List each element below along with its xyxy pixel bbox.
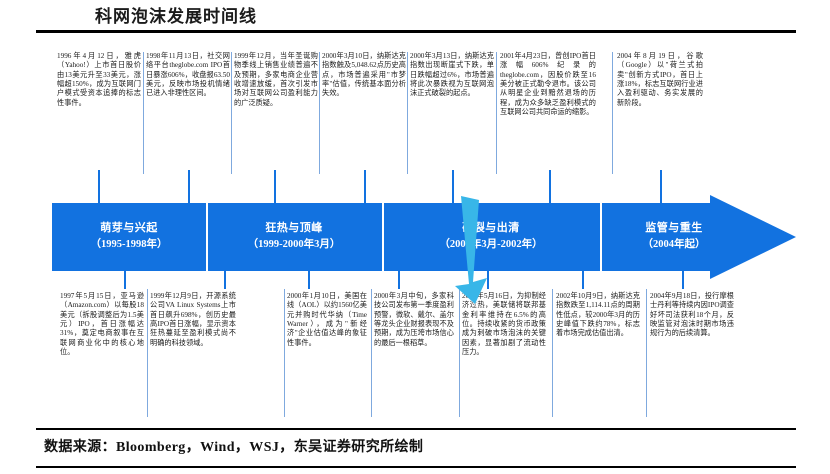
event-text: 1999年12月9日，开源系统公司VA Linux Systems上市首日飙升6…	[150, 292, 236, 347]
event-text: 2000年3月10日，纳斯达克指数触及5,048.62点历史高点，市场普遍采用"…	[322, 52, 406, 97]
connector-stem-top	[98, 170, 100, 204]
bottom-box-separator	[459, 289, 460, 417]
page-title: 科网泡沫发展时间线	[95, 2, 257, 27]
source-note: 数据来源：Bloomberg，Wind，WSJ，东吴证券研究所绘制	[44, 436, 423, 456]
title-divider	[36, 30, 796, 33]
event-box-bottom-2: 1999年12月9日，开源系统公司VA Linux Systems上市首日飙升6…	[150, 292, 236, 348]
event-box-bottom-5: 2000年5月16日，为抑制经济过热，美联储将联邦基金利率维持在6.5%的高位。…	[462, 292, 546, 358]
event-box-top-1: 1996年4月12日，雅虎（Yahoo!）上市首日股价由13美元升至33美元，涨…	[57, 52, 141, 108]
phase-label-4: 监管与重生 （2004年起）	[600, 203, 748, 271]
phase-label-2: 狂热与顶峰 （1999-2000年3月）	[206, 203, 382, 271]
phase-label-3: 破裂与出清 （2000年3月-2002年）	[382, 203, 600, 271]
phase-label-1: 萌芽与兴起 （1995-1998年）	[52, 203, 206, 271]
event-text: 2001年4月23日，曾创IPO首日涨幅606%纪录的theglobe.com，…	[500, 52, 596, 116]
top-box-separator	[231, 52, 232, 174]
footer-divider-bottom	[36, 466, 796, 468]
bottom-box-separator	[371, 289, 372, 417]
event-text: 1999年12月，当年圣诞购物季线上销售业绩普遍不及预期，多家电商企业营收增速放…	[234, 52, 318, 107]
bottom-box-separator	[147, 289, 148, 417]
top-box-separator	[319, 52, 320, 174]
connector-stem-bottom	[398, 271, 400, 289]
phase-range: （2000年3月-2002年）	[439, 237, 542, 252]
event-text: 2000年1月10日，美国在线（AOL）以约1560亿美元并购时代华纳（Time…	[287, 292, 367, 347]
event-box-top-4: 2000年3月10日，纳斯达克指数触及5,048.62点历史高点，市场普遍采用"…	[322, 52, 406, 99]
top-box-separator	[496, 52, 497, 174]
top-box-separator	[612, 52, 613, 174]
timeline-arrow: 萌芽与兴起 （1995-1998年） 狂热与顶峰 （1999-2000年3月） …	[52, 203, 794, 271]
footer-divider-top	[36, 428, 796, 430]
event-box-top-3: 1999年12月，当年圣诞购物季线上销售业绩普遍不及预期，多家电商企业营收增速放…	[234, 52, 318, 108]
phase-name: 狂热与顶峰	[265, 221, 323, 237]
phase-range: （1999-2000年3月）	[248, 237, 341, 252]
phase-name: 监管与重生	[645, 221, 703, 237]
event-text: 2002年10月9日，纳斯达克指数跌至1,114.11点的周期性低点，较2000…	[556, 292, 640, 337]
event-text: 2004年8月19日，谷歌（Google）以"荷兰式拍卖"创新方式IPO，首日上…	[617, 52, 703, 107]
event-box-bottom-6: 2002年10月9日，纳斯达克指数跌至1,114.11点的周期性低点，较2000…	[556, 292, 640, 339]
phase-name: 破裂与出清	[462, 221, 520, 237]
connector-stem-bottom	[682, 271, 684, 289]
phase-range: （1995-1998年）	[91, 237, 168, 252]
event-box-top-7: 2004年8月19日，谷歌（Google）以"荷兰式拍卖"创新方式IPO，首日上…	[617, 52, 703, 108]
event-box-top-2: 1998年11月13日，社交网络平台theglobe.com IPO首日暴涨60…	[146, 52, 230, 99]
top-box-separator	[143, 52, 144, 174]
event-box-bottom-1: 1997年5月15日，亚马逊（Amazon.com）以每股18美元（拆股调整后为…	[60, 292, 144, 358]
connector-stem-top	[364, 170, 366, 204]
connector-stem-top	[452, 170, 454, 204]
connector-stem-top	[549, 170, 551, 204]
event-text: 2000年5月16日，为抑制经济过热，美联储将联邦基金利率维持在6.5%的高位。…	[462, 292, 546, 356]
phase-divider	[206, 203, 208, 271]
connector-stem-bottom	[308, 271, 310, 289]
connector-stem-bottom	[582, 271, 584, 289]
event-text: 1997年5月15日，亚马逊（Amazon.com）以每股18美元（拆股调整后为…	[60, 292, 144, 356]
connector-stem-bottom	[487, 271, 489, 289]
event-text: 2000年3月13日，纳斯达克指数出现断崖式下跌，单日跌幅超过6%，市场普遍将此…	[410, 52, 494, 97]
phase-name: 萌芽与兴起	[100, 221, 158, 237]
top-box-separator	[407, 52, 408, 174]
event-text: 2004年9月18日，投行摩根士丹利等持续内因IPO调查好坏司法获利18个月，反…	[650, 292, 734, 337]
event-box-top-5: 2000年3月13日，纳斯达克指数出现断崖式下跌，单日跌幅超过6%，市场普遍将此…	[410, 52, 494, 99]
event-box-top-6: 2001年4月23日，曾创IPO首日涨幅606%纪录的theglobe.com，…	[500, 52, 596, 118]
event-box-bottom-3: 2000年1月10日，美国在线（AOL）以约1560亿美元并购时代华纳（Time…	[287, 292, 367, 348]
event-box-bottom-7: 2004年9月18日，投行摩根士丹利等持续内因IPO调查好坏司法获利18个月，反…	[650, 292, 734, 339]
connector-stem-bottom	[224, 271, 226, 289]
bottom-box-separator	[646, 289, 647, 417]
event-text: 1998年11月13日，社交网络平台theglobe.com IPO首日暴涨60…	[146, 52, 230, 97]
bottom-box-separator	[552, 289, 553, 417]
bottom-box-separator	[284, 289, 285, 417]
event-text: 2000年3月中旬，多家科技公司发布第一季度盈利预警，微软、戴尔、盖尔等龙头企业…	[374, 292, 454, 347]
connector-stem-top	[660, 170, 662, 204]
event-box-bottom-4: 2000年3月中旬，多家科技公司发布第一季度盈利预警，微软、戴尔、盖尔等龙头企业…	[374, 292, 454, 348]
event-text: 1996年4月12日，雅虎（Yahoo!）上市首日股价由13美元升至33美元，涨…	[57, 52, 141, 107]
connector-stem-top	[188, 170, 190, 204]
phase-divider	[600, 203, 602, 271]
phase-divider	[382, 203, 384, 271]
connector-stem-bottom	[124, 271, 126, 289]
connector-stem-top	[274, 170, 276, 204]
phase-range: （2004年起）	[643, 237, 706, 252]
